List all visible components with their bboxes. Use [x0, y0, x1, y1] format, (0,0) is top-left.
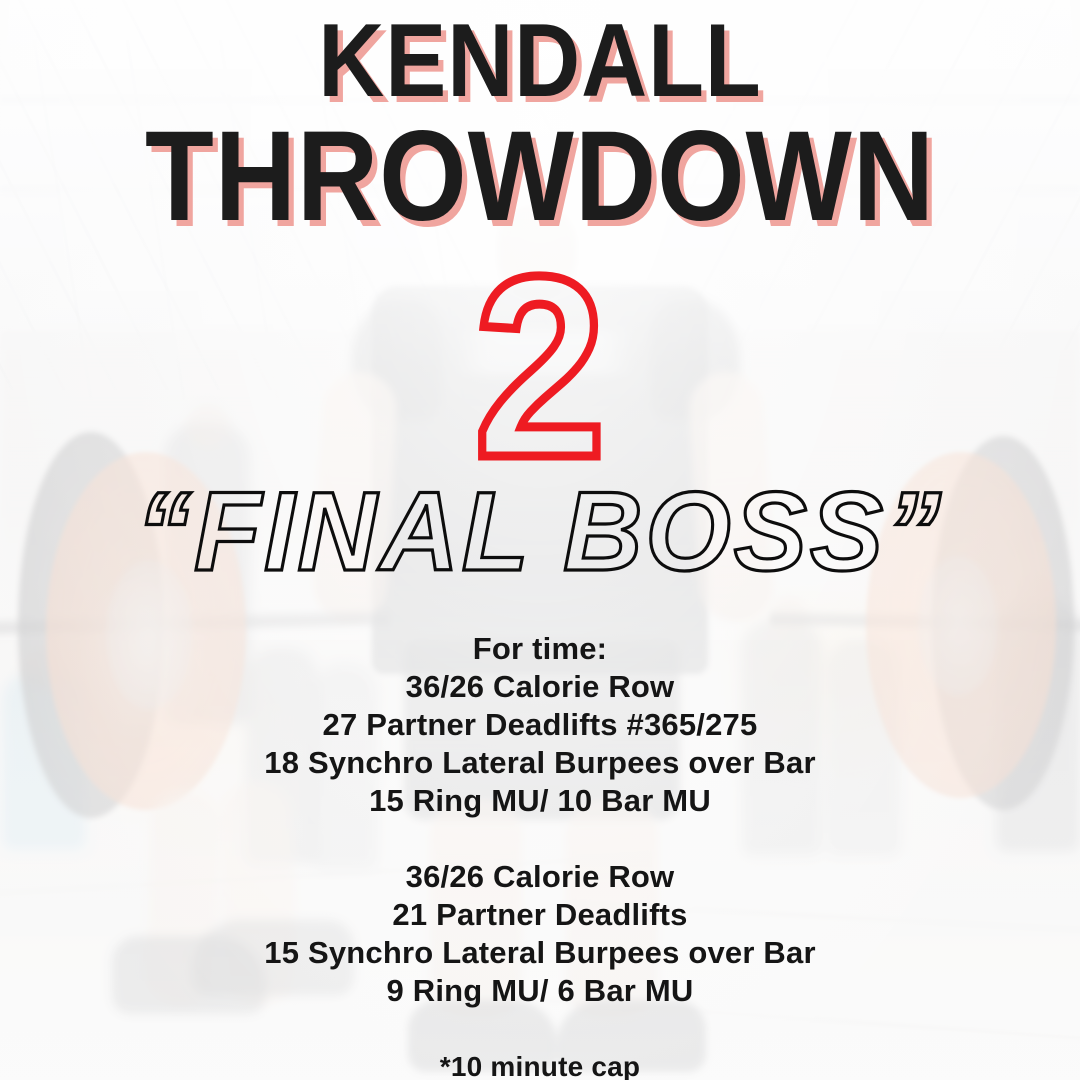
workout-details: For time: 36/26 Calorie Row 27 Partner D…	[0, 630, 1080, 1080]
workout-line: 36/26 Calorie Row	[0, 858, 1080, 896]
workout-line: 15 Ring MU/ 10 Bar MU	[0, 782, 1080, 820]
event-edition-number: 2	[43, 238, 1037, 496]
workout-round-1: 36/26 Calorie Row 27 Partner Deadlifts #…	[0, 668, 1080, 820]
workout-block-spacer	[0, 820, 1080, 858]
event-title-line-2: THROWDOWN	[65, 118, 1015, 236]
workout-round-2: 36/26 Calorie Row 21 Partner Deadlifts 1…	[0, 858, 1080, 1010]
workout-line: 18 Synchro Lateral Burpees over Bar	[0, 744, 1080, 782]
workout-line: 36/26 Calorie Row	[0, 668, 1080, 706]
workout-heading-block: For time:	[0, 630, 1080, 668]
event-title: KENDALL THROWDOWN	[0, 14, 1080, 235]
workout-line: 15 Synchro Lateral Burpees over Bar	[0, 934, 1080, 972]
workout-time-cap-note: *10 minute cap	[0, 1048, 1080, 1080]
event-title-line-1: KENDALL	[65, 14, 1015, 110]
workout-cap-spacer	[0, 1010, 1080, 1048]
workout-heading: For time:	[0, 630, 1080, 668]
workout-line: 21 Partner Deadlifts	[0, 896, 1080, 934]
workout-name-subtitle: “FINAL BOSS”	[11, 476, 1069, 588]
workout-poster: KENDALL THROWDOWN 2 “FINAL BOSS” For tim…	[0, 0, 1080, 1080]
workout-line: 9 Ring MU/ 6 Bar MU	[0, 972, 1080, 1010]
poster-content: KENDALL THROWDOWN 2 “FINAL BOSS” For tim…	[0, 0, 1080, 1080]
workout-line: 27 Partner Deadlifts #365/275	[0, 706, 1080, 744]
